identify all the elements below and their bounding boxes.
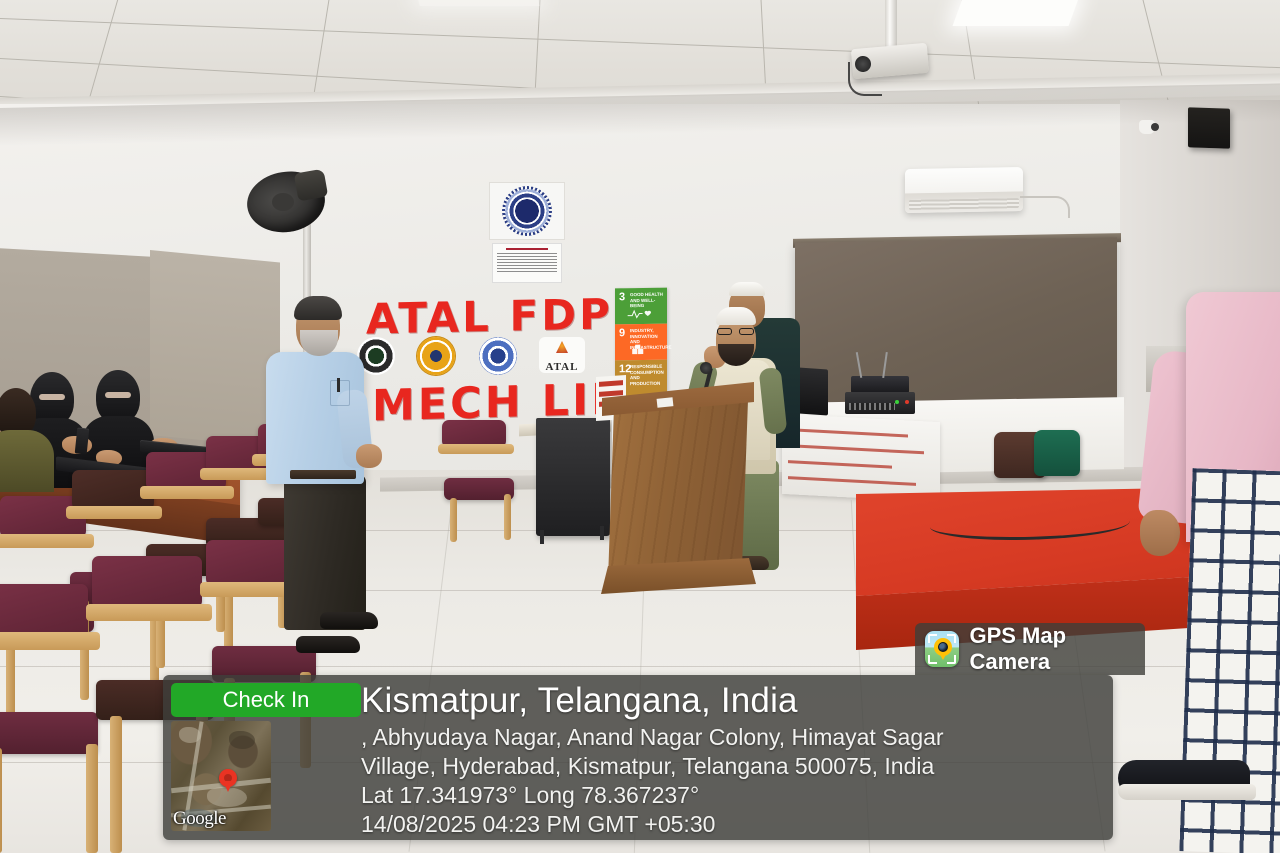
podium-body (608, 400, 748, 580)
ceiling-light (953, 0, 1080, 26)
podium-label (657, 397, 674, 408)
sdg-3-number: 3 (619, 291, 625, 305)
microphone (700, 362, 712, 374)
projector-cables (848, 62, 882, 96)
check-in-button[interactable]: Check In (171, 683, 361, 717)
map-location-pin-icon (219, 769, 237, 787)
standing-man-hand (356, 444, 382, 468)
heartbeat-icon (627, 306, 653, 321)
standing-man-belt (290, 470, 356, 479)
av-equipment-table (782, 414, 940, 502)
left-wall-panel-2 (150, 250, 280, 448)
air-conditioner-cable (1020, 196, 1070, 218)
gps-map-camera-app-name: GPS Map Camera (969, 623, 1145, 675)
wireless-receiver (851, 376, 909, 393)
address-line-1: , Abhyudaya Nagar, Anand Nagar Colony, H… (361, 723, 1107, 752)
gps-map-camera-photo: ATAL FDP ATAL MECH LIE 3 GOOD HEALTH AND… (0, 0, 1280, 853)
wall-fan-hub (272, 193, 294, 211)
wall-text-atal-fdp: ATAL FDP (366, 289, 613, 343)
foreground-person-shoe-sole (1118, 784, 1256, 800)
college-plaque (489, 182, 565, 240)
camera-lens-icon (938, 642, 948, 652)
standing-man-shoe-left (296, 636, 360, 653)
google-watermark: Google (173, 808, 226, 830)
cctv-camera-icon (1139, 120, 1155, 134)
location-title: Kismatpur, Telangana, India (361, 679, 1107, 723)
trolley-leg-2 (600, 526, 604, 540)
coordinates-line: Lat 17.341973° Long 78.367237° (361, 781, 1107, 810)
standing-man-shoe-right (320, 612, 378, 629)
address-line-2: Village, Hyderabad, Kismatpur, Telangana… (361, 752, 1107, 781)
map-thumbnail[interactable]: Google (171, 721, 271, 831)
backpack-green (1034, 430, 1080, 476)
gps-info-overlay: Check In Google Kismatpur, Telangana, In… (163, 675, 1113, 840)
standing-man-pen (337, 378, 340, 392)
lords-institute-logo-icon (479, 337, 517, 375)
notice-board (492, 243, 562, 283)
standing-man-shirt-pocket (330, 380, 350, 406)
projection-board (795, 237, 1117, 406)
sdg-panel-9: 9 INDUSTRY, INNOVATION AND INFRASTRUCTUR… (615, 324, 667, 361)
gps-map-camera-badge: GPS Map Camera (915, 623, 1145, 675)
gps-map-camera-icon (925, 631, 959, 667)
aicte-logo-icon (417, 337, 455, 375)
foreground-person-hand (1140, 510, 1180, 556)
wall-fan-motor (294, 169, 328, 202)
split-air-conditioner (905, 167, 1023, 213)
sdg-9-number: 9 (619, 327, 625, 341)
wall-logo-row: ATAL (357, 337, 587, 377)
equipment-trolley (536, 418, 610, 536)
speaker-glasses-icon (716, 328, 756, 335)
atal-logo-label: ATAL (546, 361, 579, 373)
lords-institute-emblem-icon (505, 189, 549, 233)
wall-speaker (1188, 107, 1230, 148)
speaker-prayer-cap (716, 307, 756, 325)
standing-man-trousers (284, 474, 366, 630)
ceiling-light-left (416, 0, 539, 6)
location-info-block: Kismatpur, Telangana, India , Abhyudaya … (361, 679, 1107, 839)
timestamp-line: 14/08/2025 04:23 PM GMT +05:30 (361, 810, 1107, 839)
sdg-panel-3: 3 GOOD HEALTH AND WELL-BEING (615, 288, 667, 325)
standing-man-hair (294, 296, 342, 320)
projector-mount-pipe (885, 0, 897, 48)
audio-mixer (845, 392, 915, 414)
atal-logo-icon: ATAL (539, 337, 585, 373)
industry-blocks-icon (627, 342, 653, 357)
sdg-12-title: RESPONSIBLE CONSUMPTION AND PRODUCTION (630, 364, 663, 387)
person-behind-cap (729, 282, 765, 296)
trolley-leg-1 (540, 530, 544, 544)
